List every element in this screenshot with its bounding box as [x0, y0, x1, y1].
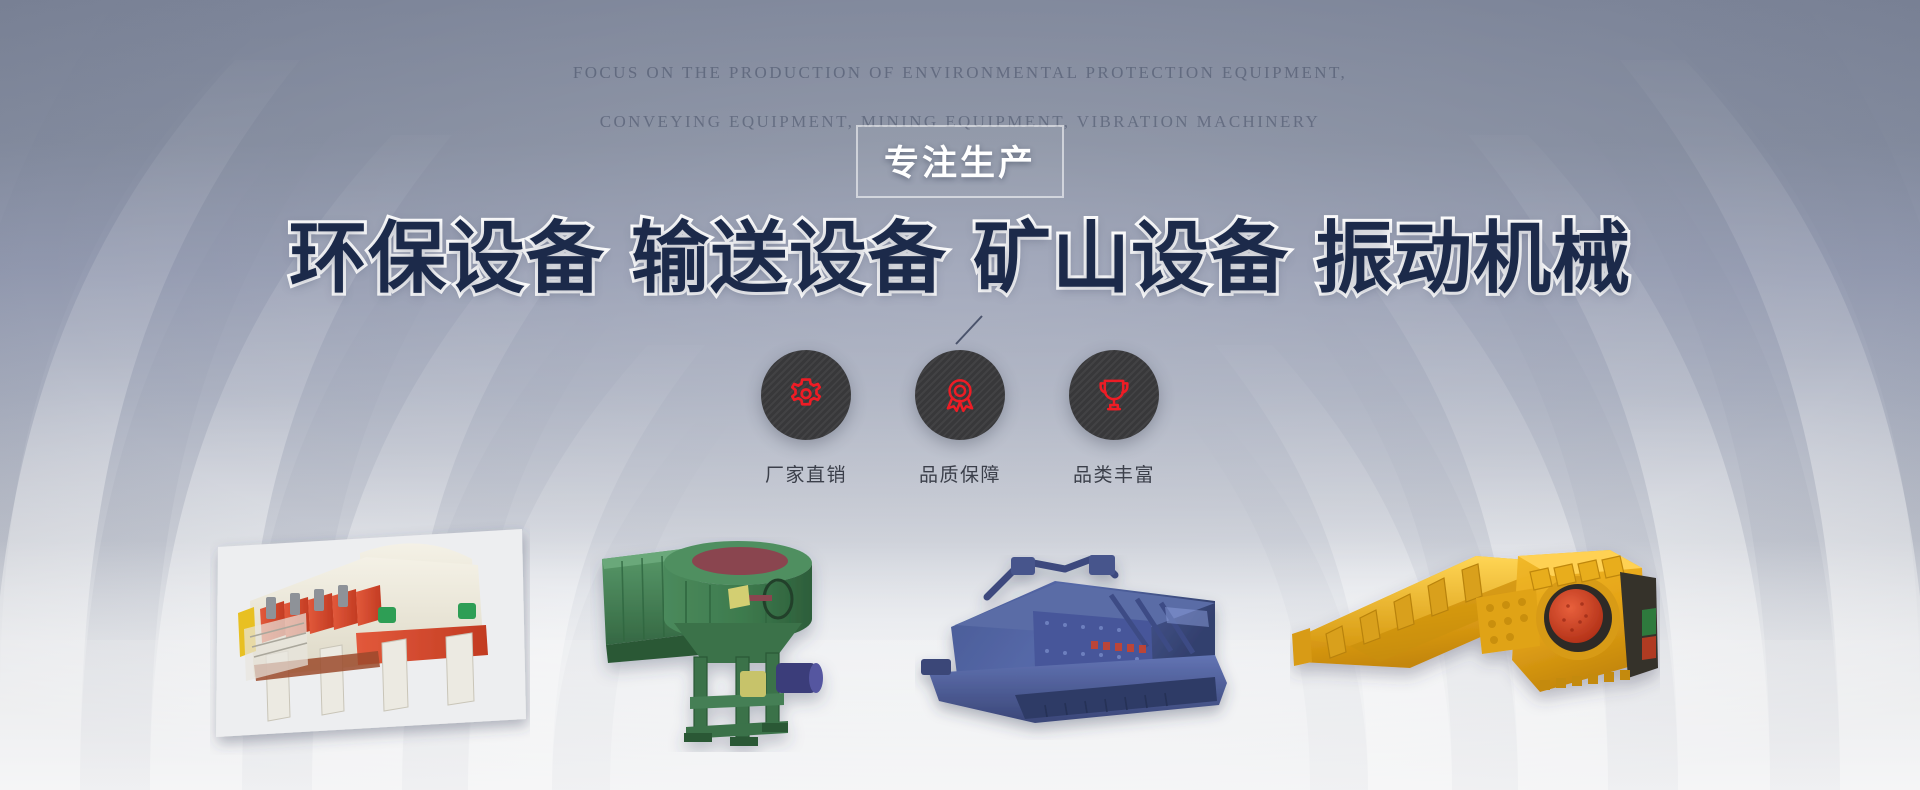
machine-gallery [0, 460, 1920, 790]
headline-part-1: 环保设备 [289, 214, 605, 302]
diagonal-tick-mark [952, 312, 988, 348]
feature-item-manufacturer-direct[interactable]: 厂家直销 [761, 350, 851, 487]
machine-image-conveying-equipment [590, 537, 840, 752]
trophy-icon [1069, 350, 1159, 440]
headline-part-2: 输送设备 [631, 214, 947, 302]
machine-image-environmental-protection-equipment [210, 505, 530, 755]
feature-label: 品质保障 [919, 460, 1001, 487]
feature-label: 厂家直销 [765, 460, 847, 487]
feature-label: 品类丰富 [1073, 460, 1155, 487]
focus-badge: 专注生产 [856, 125, 1064, 198]
headline-part-4: 振动机械 [1315, 214, 1631, 302]
focus-badge-label: 专注生产 [884, 144, 1036, 183]
eyebrow-line-1: FOCUS ON THE PRODUCTION OF ENVIRONMENTAL… [0, 61, 1920, 86]
feature-list: 厂家直销 品质保障 [761, 350, 1159, 487]
feature-item-quality-guarantee[interactable]: 品质保障 [915, 350, 1005, 487]
headline-part-3: 矿山设备 [973, 214, 1289, 302]
hero-banner: FOCUS ON THE PRODUCTION OF ENVIRONMENTAL… [0, 0, 1920, 790]
machine-image-mining-equipment [915, 555, 1245, 740]
machine-image-vibration-machinery [1290, 542, 1660, 742]
feature-item-rich-variety[interactable]: 品类丰富 [1069, 350, 1159, 487]
gear-icon [761, 350, 851, 440]
medal-icon [915, 350, 1005, 440]
page-title: 环保设备输送设备矿山设备振动机械 [0, 196, 1920, 308]
